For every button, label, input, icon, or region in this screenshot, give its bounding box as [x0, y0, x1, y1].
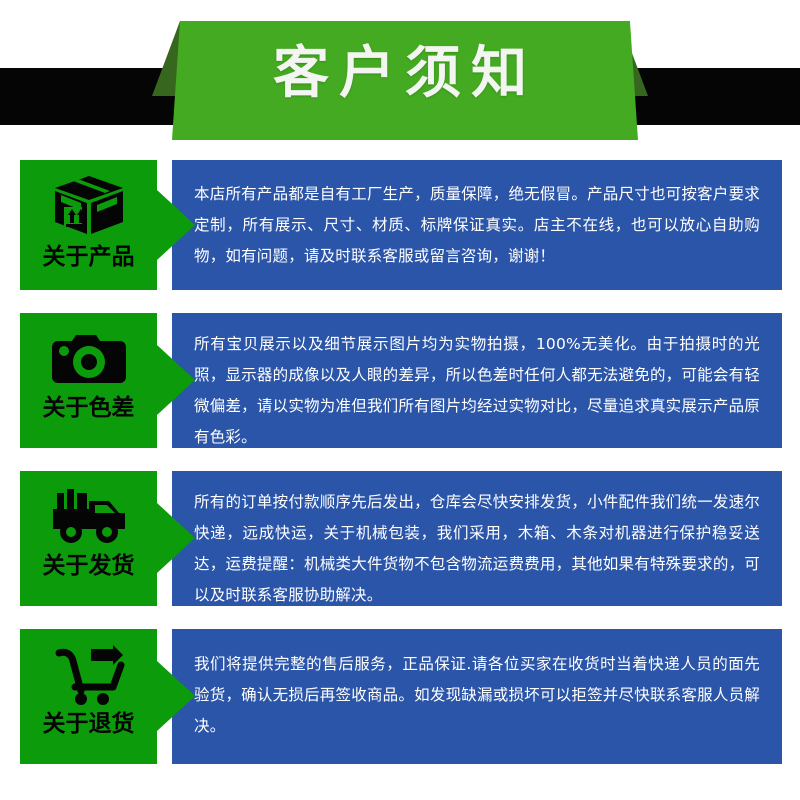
tag-label-return: 关于退货 [20, 705, 157, 749]
notice-sections: 关于产品 本店所有产品都是自有工厂生产，质量保障，绝无假冒。产品尺寸也可按客户要… [0, 160, 800, 764]
tag-arrow-return [157, 629, 197, 764]
tag-about-shipping[interactable]: 关于发货 [20, 471, 157, 606]
tag-arrow-product [157, 160, 197, 290]
tag-label-color: 关于色差 [20, 389, 157, 433]
tag-about-color[interactable]: 关于色差 [20, 313, 157, 448]
tag-arrow-color [157, 313, 197, 448]
tag-arrow-shipping [157, 471, 197, 606]
bubble-text-shipping: 所有的订单按付款顺序先后发出，仓库会尽快安排发货，小件配件我们统一发速尔快递，远… [172, 487, 782, 611]
bubble-return: 我们将提供完整的售后服务，正品保证.请各位买家在收货时当着快递人员的面先验货，确… [172, 629, 782, 764]
camera-icon [20, 313, 157, 389]
page-title: 客户须知 [0, 36, 800, 112]
bubble-product: 本店所有产品都是自有工厂生产，质量保障，绝无假冒。产品尺寸也可按客户要求定制，所… [172, 160, 782, 290]
bubble-text-product: 本店所有产品都是自有工厂生产，质量保障，绝无假冒。产品尺寸也可按客户要求定制，所… [172, 179, 782, 272]
header-banner: 客户须知 [0, 0, 800, 160]
package-box-icon [20, 160, 157, 238]
bubble-shipping: 所有的订单按付款顺序先后发出，仓库会尽快安排发货，小件配件我们统一发速尔快递，远… [172, 471, 782, 606]
bubble-color: 所有宝贝展示以及细节展示图片均为实物拍摄，100%无美化。由于拍摄时的光照，显示… [172, 313, 782, 448]
notice-row-color: 关于色差 所有宝贝展示以及细节展示图片均为实物拍摄，100%无美化。由于拍摄时的… [0, 313, 800, 448]
notice-row-product: 关于产品 本店所有产品都是自有工厂生产，质量保障，绝无假冒。产品尺寸也可按客户要… [0, 160, 800, 290]
bubble-text-return: 我们将提供完整的售后服务，正品保证.请各位买家在收货时当着快递人员的面先验货，确… [172, 649, 782, 742]
tag-label-shipping: 关于发货 [20, 547, 157, 591]
tag-about-product[interactable]: 关于产品 [20, 160, 157, 290]
return-cart-icon [20, 629, 157, 705]
tag-label-product: 关于产品 [20, 238, 157, 282]
tag-about-return[interactable]: 关于退货 [20, 629, 157, 764]
bubble-text-color: 所有宝贝展示以及细节展示图片均为实物拍摄，100%无美化。由于拍摄时的光照，显示… [172, 329, 782, 453]
notice-row-shipping: 关于发货 所有的订单按付款顺序先后发出，仓库会尽快安排发货，小件配件我们统一发速… [0, 471, 800, 606]
delivery-truck-icon [20, 471, 157, 547]
notice-row-return: 关于退货 我们将提供完整的售后服务，正品保证.请各位买家在收货时当着快递人员的面… [0, 629, 800, 764]
